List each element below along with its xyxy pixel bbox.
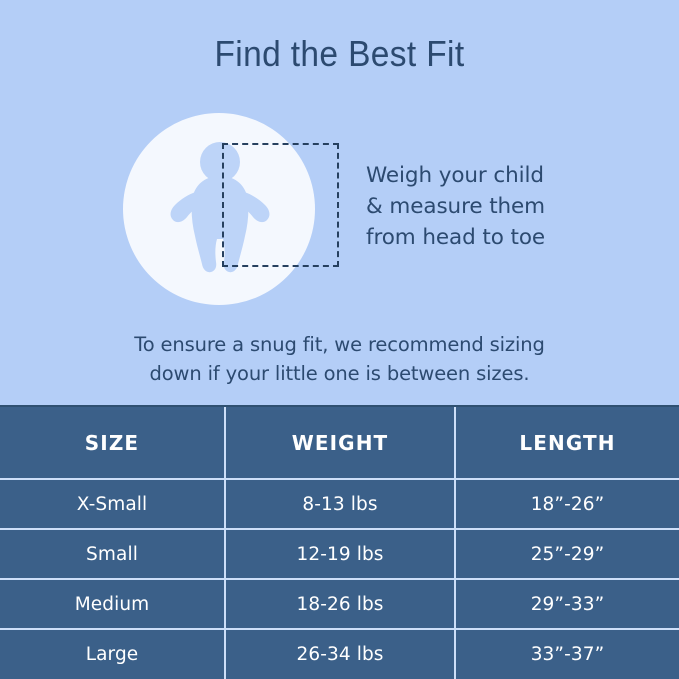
page-title: Find the Best Fit xyxy=(24,33,655,75)
cell-size: Medium xyxy=(0,580,226,628)
column-header-weight: WEIGHT xyxy=(226,407,456,478)
measure-instructions: Weigh your child & measure them from hea… xyxy=(366,160,656,253)
cell-size: X-Small xyxy=(0,480,226,528)
sizing-note-line-2: down if your little one is between sizes… xyxy=(0,359,679,388)
table-row: X-Small 8-13 lbs 18”-26” xyxy=(0,480,679,530)
column-header-size: SIZE xyxy=(0,407,226,478)
cell-size: Large xyxy=(0,630,226,679)
cell-length: 18”-26” xyxy=(456,480,679,528)
cell-weight: 12-19 lbs xyxy=(226,530,456,578)
sizing-note-line-1: To ensure a snug fit, we recommend sizin… xyxy=(0,330,679,359)
illustration-block: Weigh your child & measure them from hea… xyxy=(0,105,679,320)
cell-weight: 18-26 lbs xyxy=(226,580,456,628)
cell-weight: 8-13 lbs xyxy=(226,480,456,528)
sizing-note: To ensure a snug fit, we recommend sizin… xyxy=(0,330,679,388)
table-header-row: SIZE WEIGHT LENGTH xyxy=(0,407,679,480)
measure-instruction-line-2: & measure them xyxy=(366,191,656,222)
measure-instruction-line-1: Weigh your child xyxy=(366,160,656,191)
size-chart-table: SIZE WEIGHT LENGTH X-Small 8-13 lbs 18”-… xyxy=(0,405,679,679)
measure-instruction-line-3: from head to toe xyxy=(366,222,656,253)
table-row: Large 26-34 lbs 33”-37” xyxy=(0,630,679,679)
cell-length: 29”-33” xyxy=(456,580,679,628)
cell-weight: 26-34 lbs xyxy=(226,630,456,679)
cell-length: 33”-37” xyxy=(456,630,679,679)
size-guide-page: Find the Best Fit Weigh your child xyxy=(0,0,679,679)
table-row: Small 12-19 lbs 25”-29” xyxy=(0,530,679,580)
cell-length: 25”-29” xyxy=(456,530,679,578)
table-row: Medium 18-26 lbs 29”-33” xyxy=(0,580,679,630)
column-header-length: LENGTH xyxy=(456,407,679,478)
measure-box xyxy=(222,143,339,267)
cell-size: Small xyxy=(0,530,226,578)
